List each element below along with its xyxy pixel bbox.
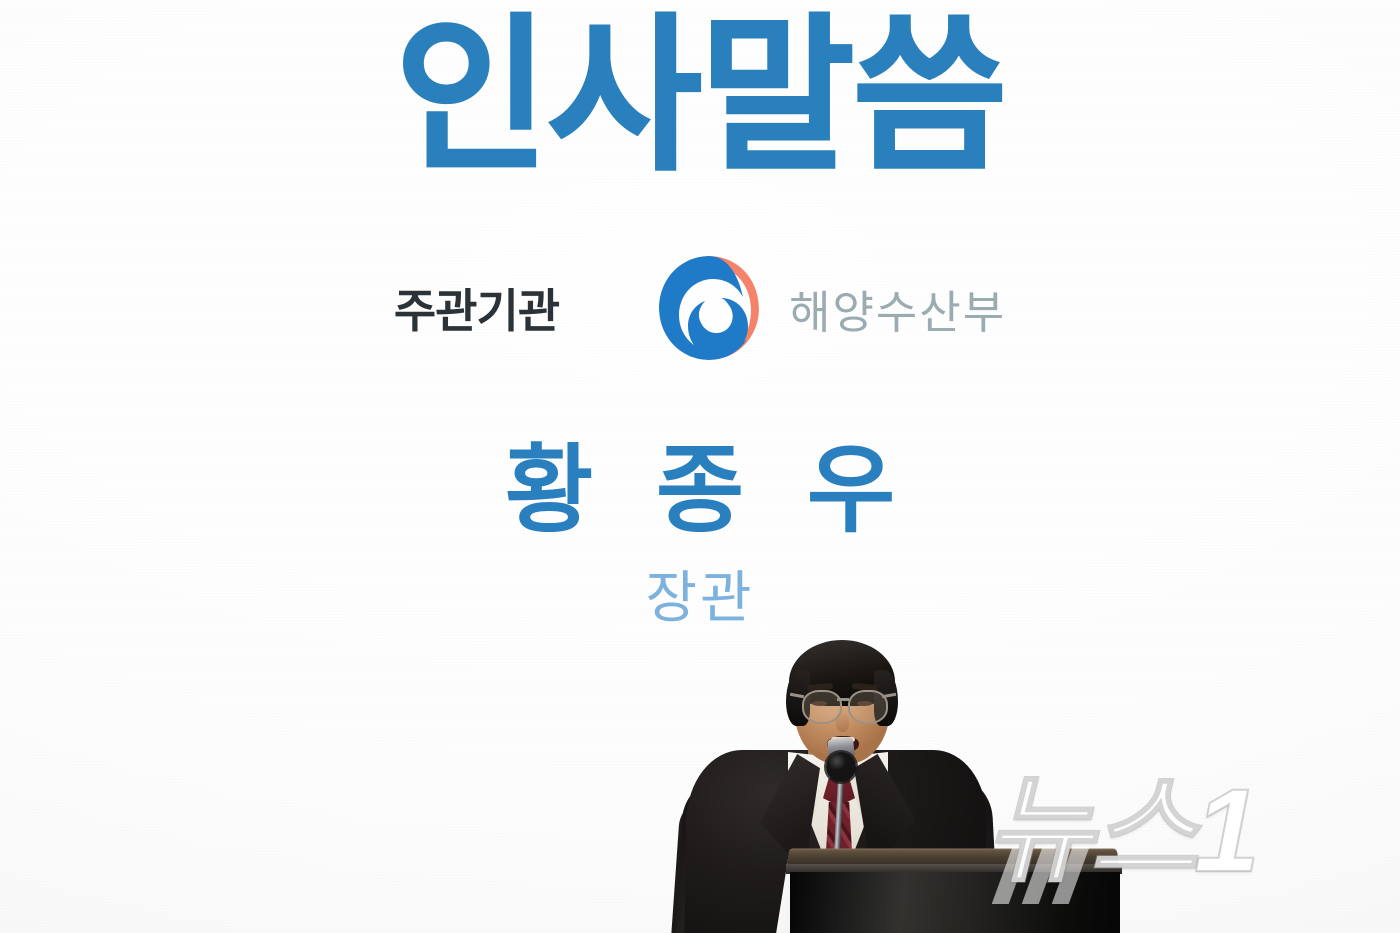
podium-front-panel [790, 872, 1120, 933]
korean-government-taegeuk-emblem [655, 252, 763, 364]
organizer-label: 주관기관 [394, 275, 559, 341]
speaker-nose [836, 712, 849, 732]
ministry-name: 해양수산부 [789, 276, 1006, 341]
speaker-name: 황 종 우 [0, 412, 1400, 551]
ministry-block: 해양수산부 [655, 252, 1006, 364]
speaker-figure [676, 626, 1146, 933]
eyeglasses-bridge [837, 698, 849, 701]
photo-canvas: 인사말씀 주관기관 [0, 0, 1400, 933]
microphone-head [826, 752, 856, 782]
speaker-title: 장관 [0, 553, 1400, 634]
slide-headline: 인사말씀 [0, 8, 1400, 184]
organizer-row: 주관기관 [0, 248, 1400, 368]
